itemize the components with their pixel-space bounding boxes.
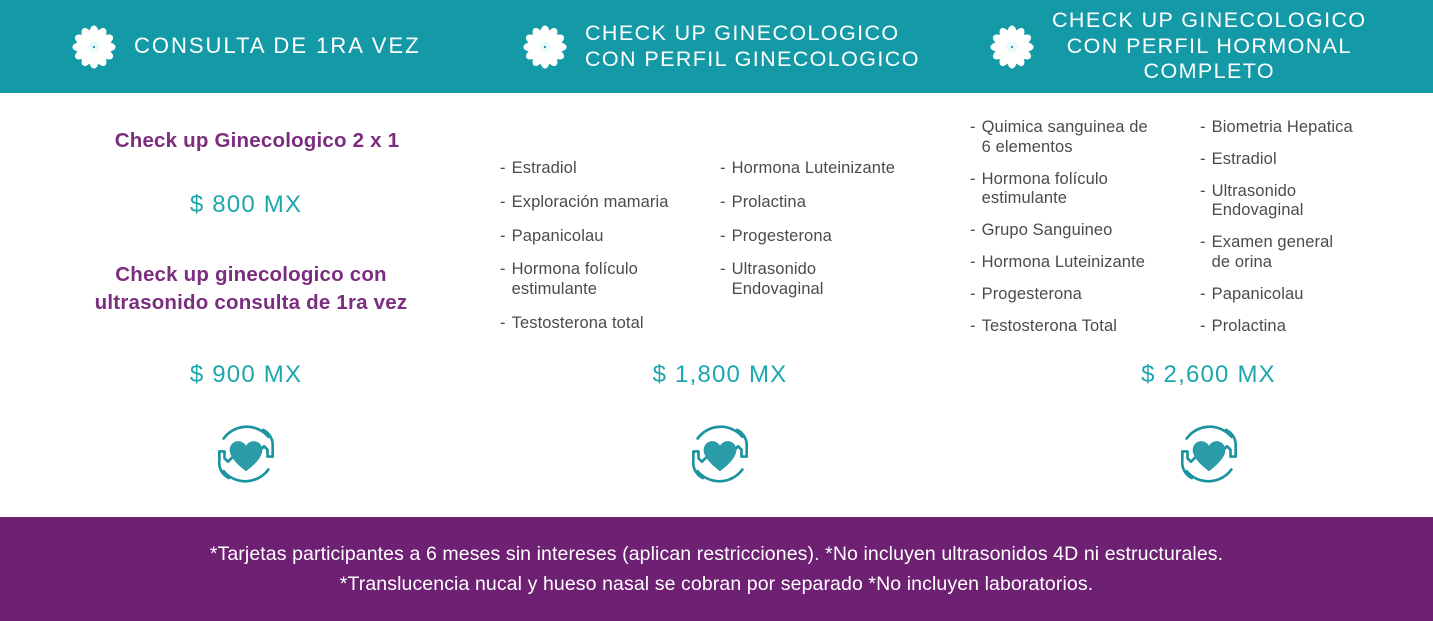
list-item-label: Progesterona [732, 227, 832, 247]
plan-price: $ 1,800 MX [480, 361, 960, 389]
plan-icon-container [0, 411, 480, 497]
list-item: - Prolactina [720, 193, 940, 213]
list-item-label: Quimica sanguinea de 6 elementos [982, 118, 1148, 158]
list-bullet-dash: - [1200, 150, 1206, 170]
list-item: - Testosterona Total [970, 317, 1200, 337]
list-item: - Ultrasonido Endovaginal [1200, 182, 1430, 222]
list-item: - Ultrasonido Endovaginal [720, 260, 940, 300]
daisy-flower-icon [523, 25, 567, 69]
pricing-body: Check up Ginecologico 2 x 1 $ 800 MX Che… [0, 93, 1433, 517]
list-bullet-dash: - [500, 314, 506, 334]
list-item: - Progesterona [720, 227, 940, 247]
list-item: - Estradiol [500, 159, 720, 179]
list-item: - Quimica sanguinea de 6 elementos [970, 118, 1200, 158]
list-item-label: Estradiol [1212, 150, 1277, 170]
list-bullet-dash: - [500, 159, 506, 179]
list-bullet-dash: - [1200, 233, 1206, 273]
plan-price: $ 900 MX [0, 361, 480, 389]
plan-heading-primary: Check up Ginecologico 2 x 1 [0, 129, 480, 153]
list-bullet-dash: - [970, 285, 976, 305]
list-item: - Prolactina [1200, 317, 1430, 337]
feature-list-right: - Biometria Hepatica - Estradiol - Ultra… [1200, 118, 1430, 348]
list-bullet-dash: - [1200, 182, 1206, 222]
list-item: - Testosterona total [500, 314, 720, 334]
list-item-label: Hormona Luteinizante [982, 253, 1145, 273]
list-item: - Estradiol [1200, 150, 1430, 170]
list-bullet-dash: - [500, 227, 506, 247]
header-title: CHECK UP GINECOLOGICO CON PERFIL HORMONA… [1052, 8, 1367, 85]
list-item-label: Ultrasonido Endovaginal [1212, 182, 1304, 222]
list-bullet-dash: - [500, 260, 506, 300]
heart-in-hands-icon [203, 411, 289, 497]
list-item: - Exploración mamaria [500, 193, 720, 213]
list-item-label: Ultrasonido Endovaginal [732, 260, 824, 300]
header-title: CONSULTA DE 1RA VEZ [134, 33, 421, 59]
plan-column-checkup-ginecologico: - Estradiol - Exploración mamaria - Papa… [480, 93, 960, 517]
list-bullet-dash: - [1200, 285, 1206, 305]
header-bar: CONSULTA DE 1RA VEZ [0, 0, 1433, 93]
plan-heading-secondary: Check up ginecologico con ultrasonido co… [0, 261, 480, 316]
list-item-label: Prolactina [1212, 317, 1286, 337]
list-item: - Biometria Hepatica [1200, 118, 1430, 138]
list-item: - Examen general de orina [1200, 233, 1430, 273]
list-item-label: Testosterona Total [982, 317, 1117, 337]
list-bullet-dash: - [1200, 317, 1206, 337]
list-item: - Progesterona [970, 285, 1200, 305]
list-bullet-dash: - [970, 118, 976, 158]
list-bullet-dash: - [970, 170, 976, 210]
list-item-label: Grupo Sanguineo [982, 221, 1113, 241]
list-item-label: Progesterona [982, 285, 1082, 305]
daisy-flower-icon [72, 25, 116, 69]
list-item: - Hormona folículo estimulante [970, 170, 1200, 210]
feature-list-right: - Hormona Luteinizante - Prolactina - Pr… [720, 159, 940, 348]
list-item: - Hormona Luteinizante [970, 253, 1200, 273]
list-bullet-dash: - [970, 317, 976, 337]
list-item-label: Estradiol [512, 159, 577, 179]
list-item: - Papanicolau [500, 227, 720, 247]
header-column-consulta: CONSULTA DE 1RA VEZ [0, 0, 480, 93]
plan-price-primary: $ 800 MX [0, 191, 480, 219]
list-bullet-dash: - [1200, 118, 1206, 138]
heart-in-hands-icon [677, 411, 763, 497]
plan-icon-container [480, 411, 960, 497]
list-item: - Hormona folículo estimulante [500, 260, 720, 300]
list-item-label: Hormona folículo estimulante [982, 170, 1108, 210]
daisy-flower-icon [990, 25, 1034, 69]
footer-disclaimer-bar: *Tarjetas participantes a 6 meses sin in… [0, 517, 1433, 621]
plan-icon-container [960, 411, 1433, 497]
list-bullet-dash: - [720, 193, 726, 213]
plan-price: $ 2,600 MX [960, 361, 1433, 389]
feature-list-left: - Quimica sanguinea de 6 elementos - Hor… [970, 118, 1200, 348]
list-item-label: Exploración mamaria [512, 193, 669, 213]
plan-feature-lists: - Quimica sanguinea de 6 elementos - Hor… [970, 118, 1433, 348]
list-item-label: Testosterona total [512, 314, 644, 334]
list-item-label: Hormona Luteinizante [732, 159, 895, 179]
list-item: - Grupo Sanguineo [970, 221, 1200, 241]
plan-column-checkup-hormonal: - Quimica sanguinea de 6 elementos - Hor… [960, 93, 1433, 517]
list-item-label: Papanicolau [512, 227, 604, 247]
list-bullet-dash: - [970, 221, 976, 241]
list-item-label: Examen general de orina [1212, 233, 1334, 273]
list-item: - Papanicolau [1200, 285, 1430, 305]
list-item-label: Biometria Hepatica [1212, 118, 1353, 138]
header-column-checkup-hormonal: CHECK UP GINECOLOGICO CON PERFIL HORMONA… [960, 0, 1433, 93]
list-bullet-dash: - [720, 159, 726, 179]
list-bullet-dash: - [720, 260, 726, 300]
list-item-label: Papanicolau [1212, 285, 1304, 305]
footer-line: *Translucencia nucal y hueso nasal se co… [340, 569, 1093, 599]
header-column-checkup-ginecologico: CHECK UP GINECOLOGICO CON PERFIL GINECOL… [480, 0, 960, 93]
footer-line: *Tarjetas participantes a 6 meses sin in… [210, 539, 1223, 569]
list-item: - Hormona Luteinizante [720, 159, 940, 179]
list-bullet-dash: - [720, 227, 726, 247]
heart-in-hands-icon [1166, 411, 1252, 497]
feature-list-left: - Estradiol - Exploración mamaria - Papa… [500, 159, 720, 348]
list-bullet-dash: - [970, 253, 976, 273]
plan-column-consulta: Check up Ginecologico 2 x 1 $ 800 MX Che… [0, 93, 480, 517]
plan-feature-lists: - Estradiol - Exploración mamaria - Papa… [500, 159, 960, 348]
header-title: CHECK UP GINECOLOGICO CON PERFIL GINECOL… [585, 21, 920, 73]
list-item-label: Hormona folículo estimulante [512, 260, 638, 300]
list-item-label: Prolactina [732, 193, 806, 213]
list-bullet-dash: - [500, 193, 506, 213]
